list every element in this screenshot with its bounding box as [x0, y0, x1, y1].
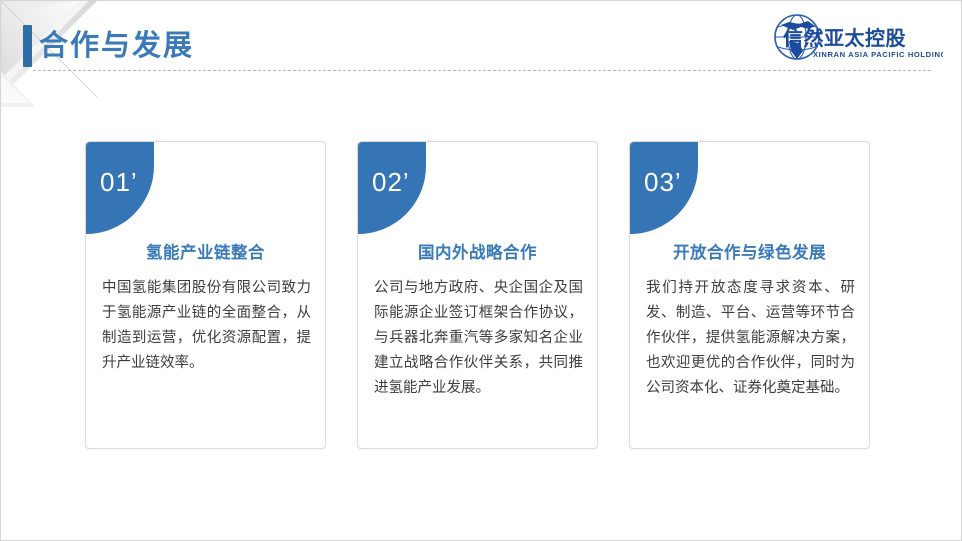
card-2-title: 国内外战略合作	[358, 242, 597, 264]
card-2-number: 02’	[372, 168, 410, 196]
card-3[interactable]: 03’ 开放合作与绿色发展 我们持开放态度寻求资本、研发、制造、平台、运营等环节…	[629, 141, 870, 449]
page-title: 合作与发展	[39, 25, 194, 67]
card-2[interactable]: 02’ 国内外战略合作 公司与地方政府、央企国企及国际能源企业签订框架合作协议，…	[357, 141, 598, 449]
card-3-number: 03’	[644, 168, 682, 196]
content-cards: 01’ 氢能产业链整合 中国氢能集团股份有限公司致力于氢能源产业链的全面整合，从…	[85, 141, 880, 451]
company-logo: 信然亚太控股 XINRAN ASIA PACIFIC HOLDINGS	[753, 13, 943, 65]
card-3-title: 开放合作与绿色发展	[630, 242, 869, 264]
logo-name-en: XINRAN ASIA PACIFIC HOLDINGS	[813, 50, 943, 59]
logo-name-cn: 信然亚太控股	[783, 26, 906, 50]
slide-header: 合作与发展 信然亚太控股 XINRAN ASIA PACIFIC HOLDING…	[1, 1, 962, 81]
card-1-body: 中国氢能集团股份有限公司致力于氢能源产业链的全面整合，从制造到运营，优化资源配置…	[102, 276, 311, 376]
header-divider	[33, 70, 931, 71]
card-1[interactable]: 01’ 氢能产业链整合 中国氢能集团股份有限公司致力于氢能源产业链的全面整合，从…	[85, 141, 326, 449]
globe-icon: 信然亚太控股 XINRAN ASIA PACIFIC HOLDINGS	[753, 13, 943, 65]
card-1-title: 氢能产业链整合	[86, 242, 325, 264]
card-3-body: 我们持开放态度寻求资本、研发、制造、平台、运营等环节合作伙伴，提供氢能源解决方案…	[646, 276, 855, 401]
title-accent-bar	[23, 25, 32, 67]
card-2-body: 公司与地方政府、央企国企及国际能源企业签订框架合作协议，与兵器北奔重汽等多家知名…	[374, 276, 583, 401]
card-1-number: 01’	[100, 168, 138, 196]
slide: 合作与发展 信然亚太控股 XINRAN ASIA PACIFIC HOLDING…	[0, 0, 962, 541]
